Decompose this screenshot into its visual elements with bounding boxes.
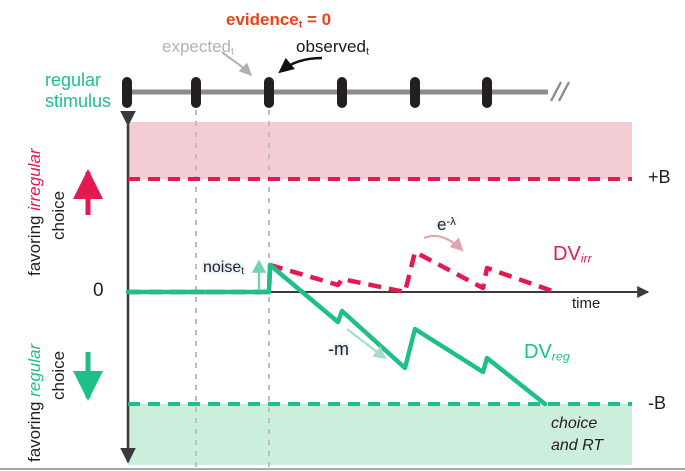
expected-label: expectedt — [162, 38, 234, 57]
observed-pointer-arrow — [281, 58, 322, 71]
dv-irr-text: DV — [553, 243, 581, 265]
favoring-regular-prefix: favoring — [25, 397, 44, 462]
irregular-choice-band — [128, 122, 632, 179]
noise-label: noiset — [203, 260, 244, 277]
dv-irr-subscript: irr — [581, 252, 592, 266]
regular-choice-band — [128, 404, 632, 465]
decay-exponent: -λ — [446, 216, 455, 228]
choice-rt-line2: and RT — [551, 438, 603, 454]
expected-subscript: t — [231, 45, 234, 57]
axis-break-icon — [551, 82, 569, 101]
noise-text: noise — [203, 259, 241, 276]
noise-subscript: t — [241, 266, 244, 277]
diagram-canvas — [0, 0, 685, 471]
observed-subscript: t — [366, 45, 369, 57]
stimulus-label-line1: regular — [45, 71, 101, 89]
choice-rt-line1: choice — [551, 416, 597, 432]
choice-label-bottom: choice — [50, 351, 67, 400]
upper-bound-label: +B — [648, 168, 671, 186]
expected-text: expected — [162, 37, 231, 56]
favoring-regular-label: favoring regular — [26, 344, 43, 462]
favoring-irregular-prefix: favoring — [25, 211, 44, 276]
decay-arrow — [424, 236, 462, 250]
regular-word: regular — [25, 344, 44, 397]
time-axis-label: time — [572, 296, 600, 311]
decay-label: e-λ — [437, 216, 456, 233]
zero-tick-label: 0 — [93, 281, 104, 300]
figure-root: evidencet = 0 expectedt observedt regula… — [0, 0, 685, 471]
irregular-word: irregular — [25, 148, 44, 210]
choice-label-top: choice — [50, 191, 67, 240]
evidence-text: evidence — [226, 10, 299, 29]
drift-label: -m — [328, 340, 349, 358]
evidence-equals-zero: = 0 — [302, 10, 331, 29]
stimulus-label-line2: stimulus — [45, 92, 111, 110]
observed-text: observed — [296, 37, 366, 56]
favoring-irregular-label: favoring irregular — [26, 148, 43, 276]
dv-regular-label: DVreg — [524, 342, 570, 363]
observed-label: observedt — [296, 38, 369, 57]
dv-irregular-trace — [128, 252, 555, 292]
lower-bound-label: -B — [648, 394, 666, 412]
dv-reg-text: DV — [524, 341, 552, 363]
dv-irregular-label: DVirr — [553, 244, 592, 265]
evidence-label: evidencet = 0 — [226, 11, 331, 30]
dv-reg-subscript: reg — [552, 350, 570, 364]
